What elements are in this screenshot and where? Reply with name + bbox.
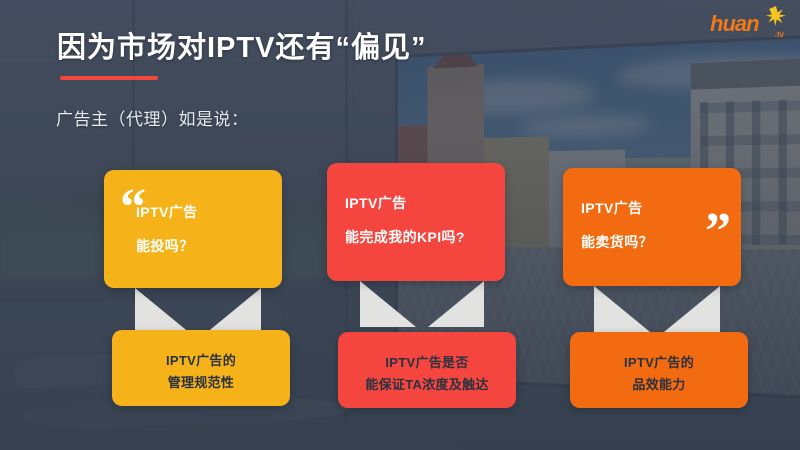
question-bubble-3[interactable]: IPTV广告 能卖货吗？ ” bbox=[563, 168, 741, 286]
question-line-1: IPTV广告 bbox=[345, 193, 407, 213]
logo-suffix: .tv bbox=[775, 30, 784, 39]
answer-bubble-2[interactable]: IPTV广告是否 能保证TA浓度及触达 bbox=[338, 332, 516, 408]
question-bubble-1[interactable]: “ IPTV广告 能投吗？ bbox=[104, 170, 282, 288]
answer-line-2: 管理规范性 bbox=[112, 372, 290, 391]
answer-line-2: 能保证TA浓度及触达 bbox=[338, 374, 516, 393]
answer-line-1: IPTV广告是否 bbox=[338, 352, 516, 371]
slide-canvas: 因为市场对IPTV还有“偏见” 广告主（代理）如是说： huan .tv “ I… bbox=[0, 0, 800, 450]
question-line-1: IPTV广告 bbox=[581, 198, 643, 218]
brand-logo[interactable]: huan .tv bbox=[710, 8, 786, 42]
subtitle: 广告主（代理）如是说： bbox=[56, 105, 249, 130]
answer-line-1: IPTV广告的 bbox=[112, 350, 290, 369]
quote-close-icon: ” bbox=[705, 206, 731, 258]
question-line-2: 能卖货吗？ bbox=[581, 232, 653, 252]
sparkle-star-icon bbox=[766, 6, 786, 26]
question-line-1: IPTV广告 bbox=[136, 202, 198, 222]
header: 因为市场对IPTV还有“偏见” 广告主（代理）如是说： bbox=[0, 0, 800, 92]
question-bubble-2[interactable]: IPTV广告 能完成我的KPI吗? bbox=[327, 163, 505, 281]
title-underline bbox=[60, 76, 158, 80]
logo-wordmark: huan bbox=[710, 11, 759, 37]
answer-line-1: IPTV广告的 bbox=[570, 352, 748, 371]
question-line-2: 能投吗？ bbox=[136, 236, 194, 256]
answer-bubble-1[interactable]: IPTV广告的 管理规范性 bbox=[112, 330, 290, 406]
question-line-2: 能完成我的KPI吗? bbox=[345, 227, 465, 247]
answer-line-2: 品效能力 bbox=[570, 374, 748, 393]
page-title: 因为市场对IPTV还有“偏见” bbox=[57, 24, 426, 66]
answer-bubble-3[interactable]: IPTV广告的 品效能力 bbox=[570, 332, 748, 408]
